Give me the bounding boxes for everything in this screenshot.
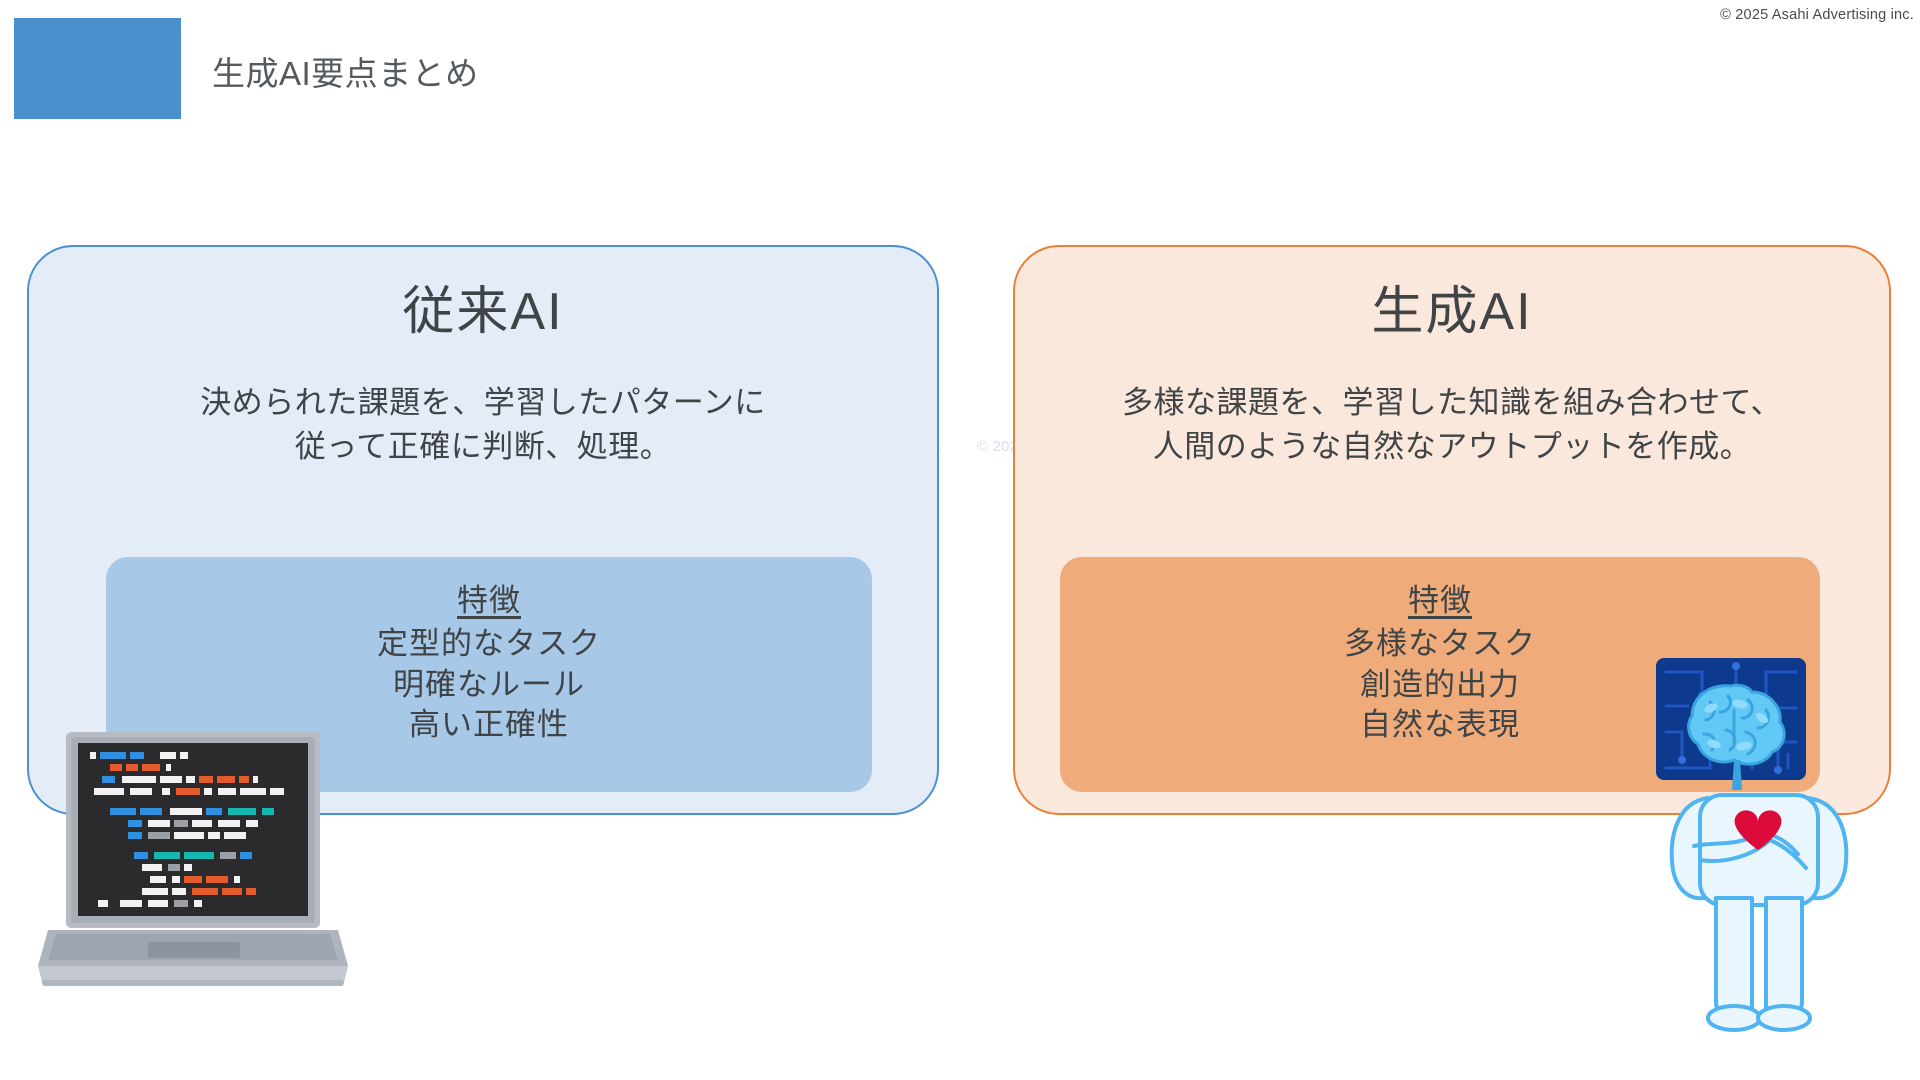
page-title: 生成AI要点まとめ: [212, 47, 479, 95]
card-description: 決められた課題を、学習したパターンに 従って正確に判断、処理。: [29, 381, 937, 470]
slide-canvas: © 2025 Asahi Advertising inc. © 2025 Asa…: [0, 0, 1920, 1080]
card-description-line: 従って正確に判断、処理。: [29, 425, 937, 469]
laptop-code-icon: [38, 730, 348, 995]
brain-circuit-human-icon: [1648, 650, 1888, 1040]
card-title: 従来AI: [29, 269, 937, 344]
feature-item: 定型的なタスク: [106, 624, 872, 665]
card-description: 多様な課題を、学習した知識を組み合わせて、 人間のような自然なアウトプットを作成…: [1015, 381, 1889, 470]
feature-item: 明確なルール: [106, 665, 872, 706]
feature-heading: 特徴: [1060, 575, 1820, 620]
card-description-line: 決められた課題を、学習したパターンに: [29, 381, 937, 425]
accent-block: [14, 18, 181, 119]
copyright-notice: © 2025 Asahi Advertising inc.: [1720, 7, 1914, 23]
card-description-line: 人間のような自然なアウトプットを作成。: [1015, 425, 1889, 469]
feature-heading: 特徴: [106, 575, 872, 620]
card-title: 生成AI: [1015, 269, 1889, 344]
slide-header: 生成AI要点まとめ © 2025 Asahi Advertising inc.: [0, 0, 1920, 150]
card-description-line: 多様な課題を、学習した知識を組み合わせて、: [1015, 381, 1889, 425]
